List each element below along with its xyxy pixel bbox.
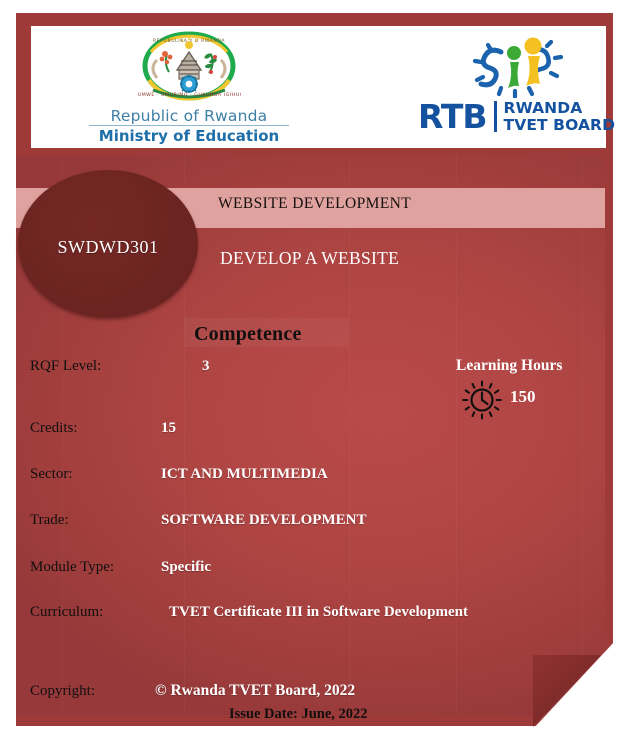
competence-heading: Competence [194, 323, 302, 346]
module-code-text: SWDWD301 [58, 237, 159, 258]
detail-value: SOFTWARE DEVELOPMENT [161, 512, 366, 529]
detail-value: 15 [161, 420, 176, 437]
rtb-fullname-line1: RWANDA [504, 100, 616, 117]
rtb-fullname: RWANDA TVET BOARD [504, 100, 616, 133]
logo-header-panel: REPUBULIKA Y U RWANDA UBUMWE · UMURIMO ·… [31, 26, 606, 148]
page-fold-corner [533, 641, 615, 729]
rtb-emblem-icon [409, 36, 624, 98]
rtb-acronym: RTB [418, 100, 487, 133]
detail-label: Curriculum: [30, 604, 103, 621]
detail-label: Module Type: [30, 559, 114, 576]
ministry-caption-line1: Republic of Rwanda [89, 108, 289, 126]
detail-label: Trade: [30, 512, 69, 529]
detail-label: Sector: [30, 466, 73, 483]
svg-text:UBUMWE · UMURIMO · GUKUNDA IGI: UBUMWE · UMURIMO · GUKUNDA IGIHUGU [137, 92, 241, 98]
clock-icon [459, 379, 505, 421]
copyright-value: © Rwanda TVET Board, 2022 [155, 682, 355, 700]
svg-text:REPUBULIKA Y U RWANDA: REPUBULIKA Y U RWANDA [153, 38, 226, 44]
rtb-fullname-line2: TVET BOARD [504, 117, 616, 134]
detail-value: ICT AND MULTIMEDIA [161, 466, 328, 483]
panel-seam [456, 155, 457, 715]
detail-label: RQF Level: [30, 358, 101, 375]
module-code-badge: SWDWD301 [18, 170, 198, 318]
rtb-wordmark: RTB RWANDA TVET BOARD [409, 100, 624, 133]
copyright-label: Copyright: [30, 683, 95, 700]
ministry-logo-block: REPUBULIKA Y U RWANDA UBUMWE · UMURIMO ·… [89, 30, 289, 148]
detail-value: TVET Certificate III in Software Develop… [169, 604, 468, 621]
rtb-logo-block: RTB RWANDA TVET BOARD [409, 36, 624, 144]
learning-hours-label: Learning Hours [456, 357, 562, 375]
issue-date-text: Issue Date: June, 2022 [229, 706, 368, 723]
rtb-divider [494, 101, 497, 132]
ministry-caption-line2: Ministry of Education [89, 126, 289, 145]
cover-body-panel: WEBSITE DEVELOPMENT DEVELOP A WEBSITE SW… [16, 155, 605, 715]
rwanda-coat-of-arms-icon: REPUBULIKA Y U RWANDA UBUMWE · UMURIMO ·… [89, 30, 289, 108]
band-title-text: WEBSITE DEVELOPMENT [218, 195, 411, 213]
detail-label: Credits: [30, 420, 78, 437]
detail-value: Specific [161, 559, 211, 576]
cover-page: REPUBULIKA Y U RWANDA UBUMWE · UMURIMO ·… [0, 0, 630, 740]
learning-hours-value: 150 [510, 387, 536, 407]
detail-value: 3 [202, 358, 210, 375]
module-title-text: DEVELOP A WEBSITE [220, 248, 399, 269]
panel-seam [582, 155, 583, 715]
panel-seam [349, 155, 350, 715]
